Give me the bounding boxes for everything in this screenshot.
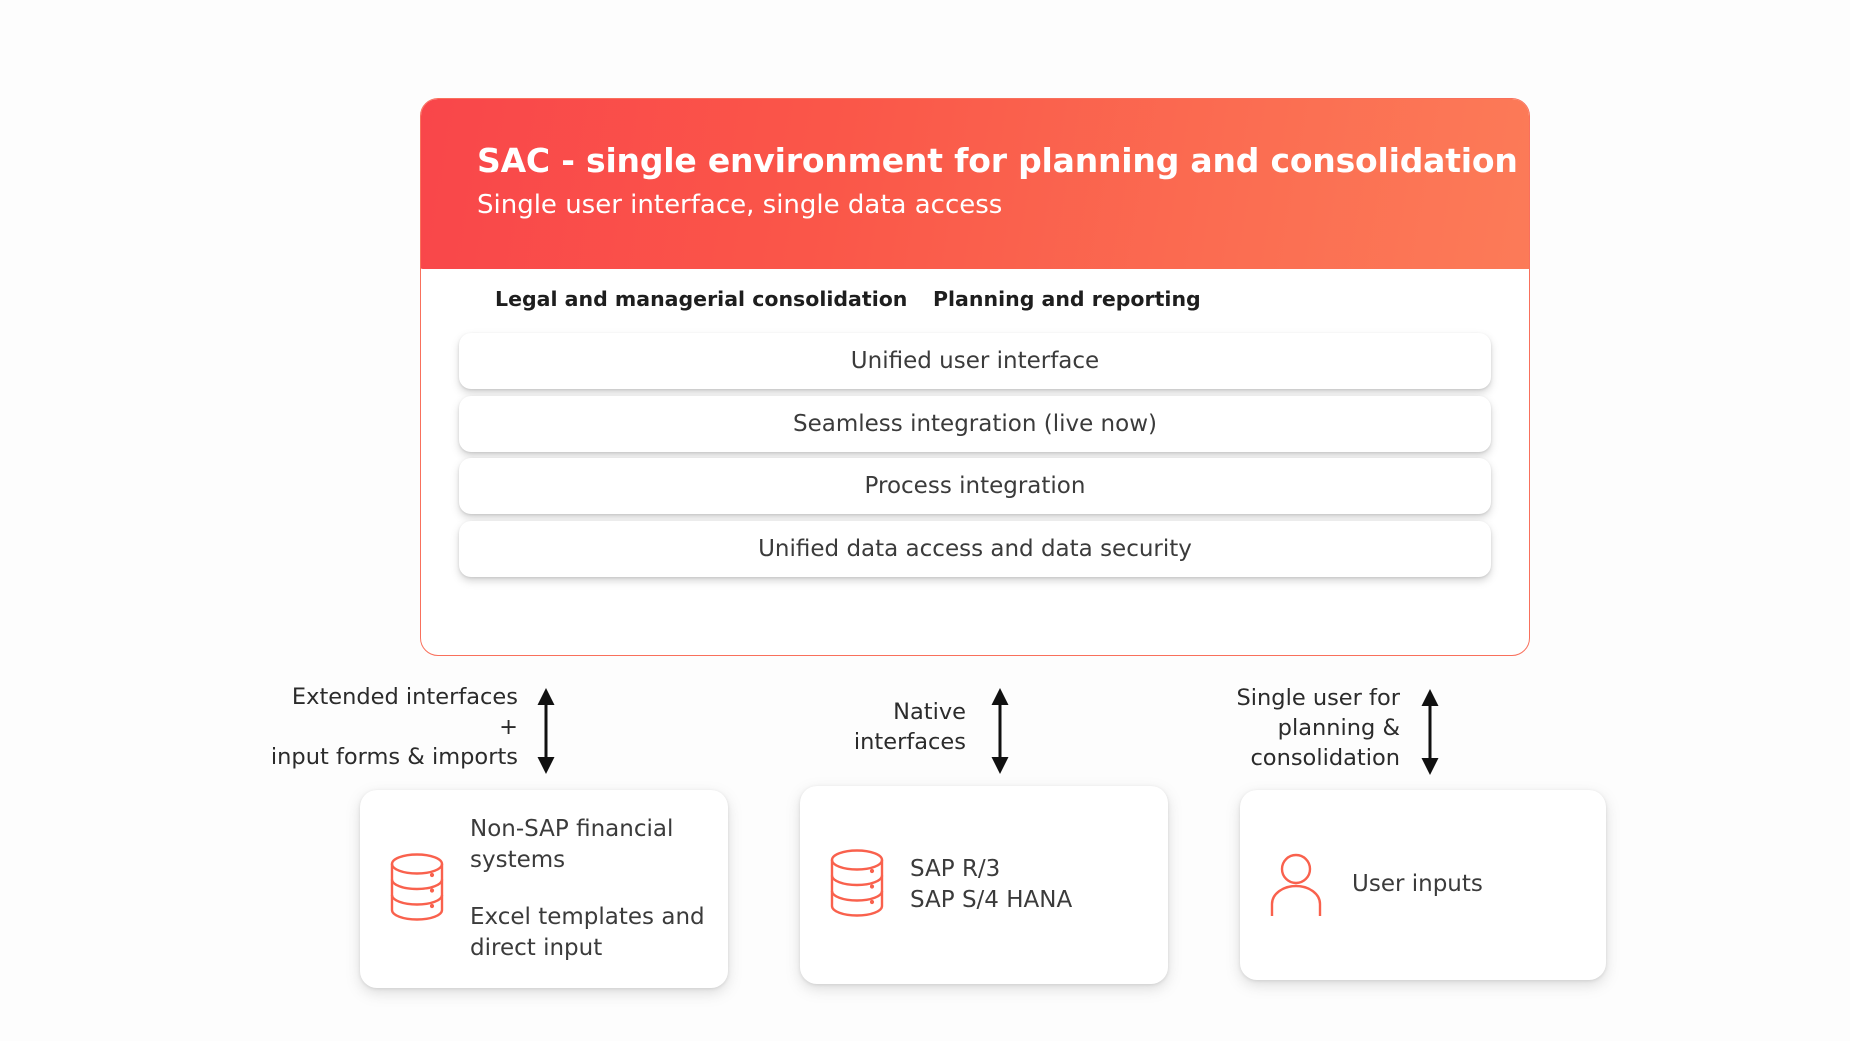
capability-row[interactable]: Unified data access and data security bbox=[459, 521, 1491, 577]
source-card-text-secondary: Excel templates and direct input bbox=[470, 902, 705, 964]
source-card-text-primary: User inputs bbox=[1352, 869, 1483, 900]
column-header-legal-consolidation: Legal and managerial consolidation bbox=[495, 287, 907, 311]
capability-rows-list: Unified user interface Seamless integrat… bbox=[459, 333, 1491, 583]
source-card-sap[interactable]: SAP R/3 SAP S/4 HANA bbox=[800, 786, 1168, 984]
sac-header-banner: SAC - single environment for planning an… bbox=[420, 98, 1530, 269]
page-subtitle: Single user interface, single data acces… bbox=[477, 190, 1002, 220]
double-vertical-arrow-icon bbox=[534, 688, 558, 768]
column-header-row: Legal and managerial consolidation Plann… bbox=[421, 287, 1529, 323]
page-title: SAC - single environment for planning an… bbox=[477, 141, 1518, 180]
double-vertical-arrow-icon bbox=[988, 688, 1012, 768]
capability-row[interactable]: Seamless integration (live now) bbox=[459, 396, 1491, 452]
connector-group-right: Single user for planning & consolidation bbox=[1228, 670, 1478, 788]
connector-label-extended-interfaces: Extended interfaces + input forms & impo… bbox=[268, 683, 518, 773]
connector-label-single-user: Single user for planning & consolidation bbox=[1228, 684, 1400, 774]
source-card-user-inputs[interactable]: User inputs bbox=[1240, 790, 1606, 980]
connector-group-left: Extended interfaces + input forms & impo… bbox=[268, 680, 564, 776]
user-icon bbox=[1266, 850, 1326, 920]
capability-row[interactable]: Process integration bbox=[459, 458, 1491, 514]
connector-group-middle: Native interfaces bbox=[818, 680, 1048, 776]
database-icon bbox=[388, 851, 446, 927]
source-card-text-primary: SAP R/3 SAP S/4 HANA bbox=[910, 854, 1072, 916]
source-card-non-sap[interactable]: Non-SAP financial systems Excel template… bbox=[360, 790, 728, 988]
capability-row-label: Unified data access and data security bbox=[758, 536, 1192, 562]
double-vertical-arrow-icon bbox=[1418, 689, 1442, 769]
capability-row-label: Seamless integration (live now) bbox=[793, 411, 1157, 437]
sac-main-panel: SAC - single environment for planning an… bbox=[420, 98, 1530, 656]
column-header-planning-reporting: Planning and reporting bbox=[933, 287, 1201, 311]
database-icon bbox=[828, 847, 886, 923]
connector-label-native-interfaces: Native interfaces bbox=[818, 698, 966, 758]
capability-row-label: Process integration bbox=[865, 473, 1086, 499]
source-card-text-primary: Non-SAP financial systems bbox=[470, 814, 705, 876]
capability-row[interactable]: Unified user interface bbox=[459, 333, 1491, 389]
capability-row-label: Unified user interface bbox=[851, 348, 1099, 374]
text-spacer bbox=[470, 876, 705, 902]
